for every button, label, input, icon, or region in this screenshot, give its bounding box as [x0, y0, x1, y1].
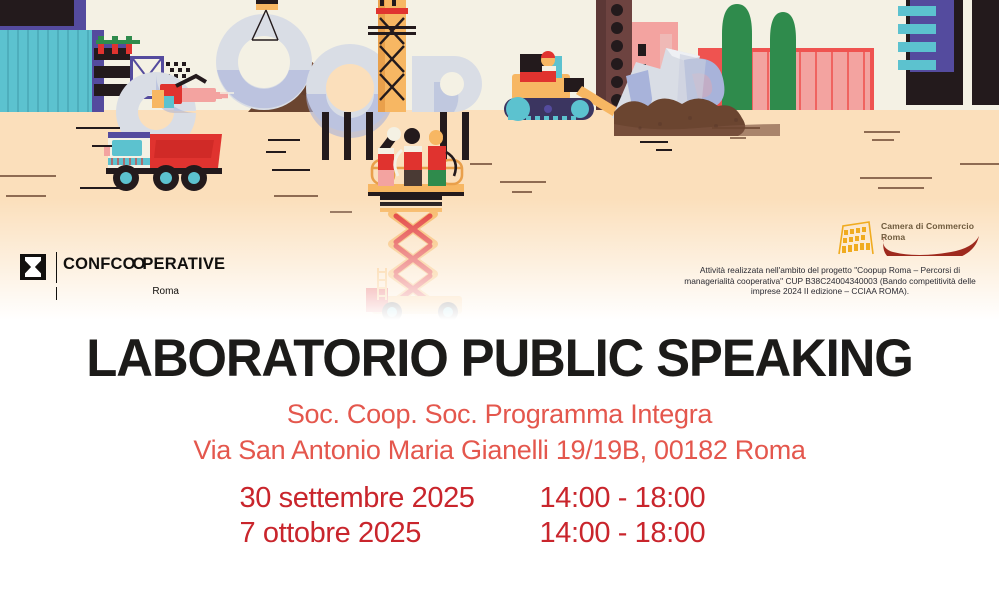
venue-address: Via San Antonio Maria Gianelli 19/19B, 0… — [0, 432, 999, 468]
cciaa-name: Camera di CommercioRoma — [881, 221, 974, 242]
logo-camera-di-commercio: Camera di CommercioRoma — [833, 220, 981, 256]
logo-divider — [56, 252, 57, 283]
poster-root: CONFCOOPERATIVE Roma Camera di Commercio… — [0, 0, 999, 600]
schedule-block: 30 settembre 2025 14:00 - 18:00 7 ottobr… — [0, 482, 999, 550]
confcooperative-wordmark: CONFCOOPERATIVE — [63, 255, 225, 274]
page-title: LABORATORIO PUBLIC SPEAKING — [20, 328, 979, 389]
venue-block: Soc. Coop. Soc. Programma Integra Via Sa… — [0, 396, 999, 468]
project-fine-print: Attività realizzata nell'ambito del prog… — [684, 265, 976, 297]
schedule-time: 14:00 - 18:00 — [540, 482, 760, 515]
logo-divider-lower — [56, 287, 57, 300]
confcooperative-city: Roma — [63, 286, 179, 297]
schedule-time: 14:00 - 18:00 — [540, 517, 760, 550]
schedule-date: 30 settembre 2025 — [240, 482, 540, 515]
schedule-date: 7 ottobre 2025 — [240, 517, 540, 550]
logo-confcooperative: CONFCOOPERATIVE Roma — [20, 252, 200, 304]
schedule-row: 30 settembre 2025 14:00 - 18:00 — [240, 482, 760, 515]
venue-organisation: Soc. Coop. Soc. Programma Integra — [0, 396, 999, 432]
schedule-row: 7 ottobre 2025 14:00 - 18:00 — [240, 517, 760, 550]
confcooperative-mark-icon — [20, 254, 46, 280]
colosseum-arches — [842, 227, 870, 253]
